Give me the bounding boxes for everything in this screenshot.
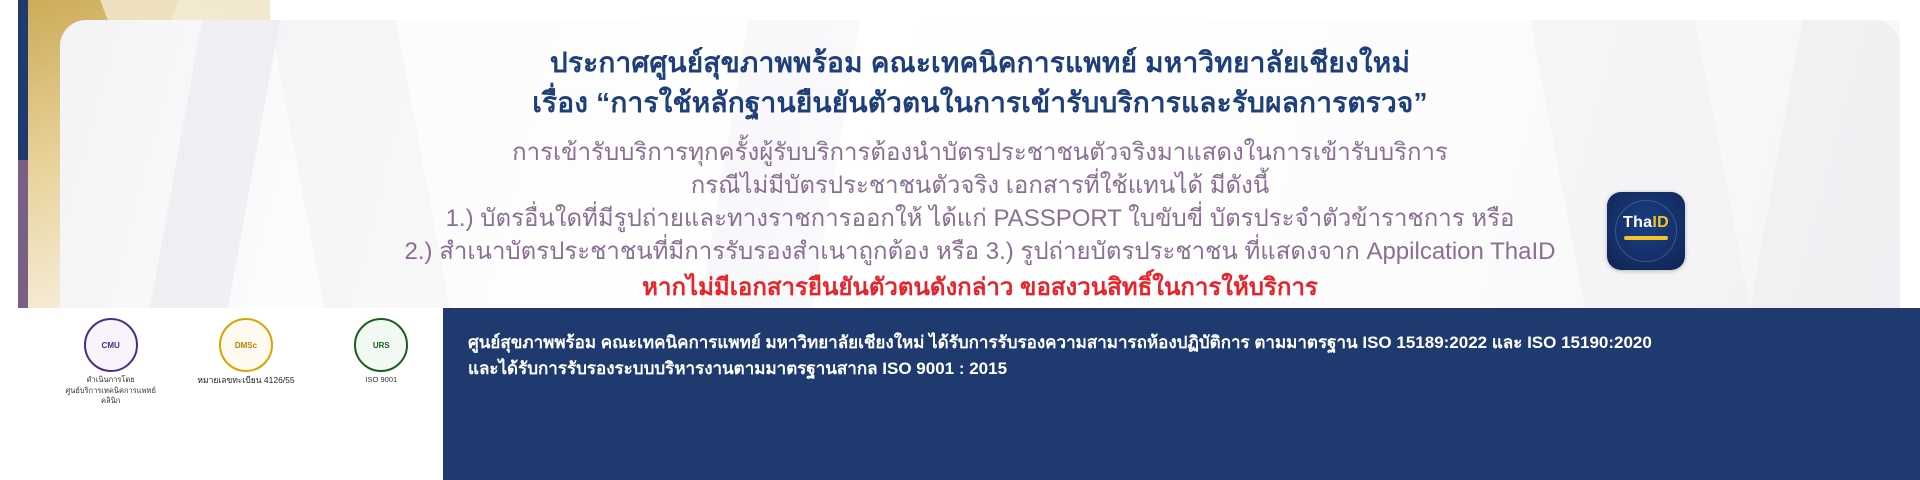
dmsc-seal-icon: DMSc [219, 318, 273, 372]
thaid-underline-decoration [1624, 236, 1668, 240]
logo-item-urs: URS ISO 9001 [327, 318, 436, 385]
footer-bar: CMU ดำเนินการโดย ศูนย์บริการเทคนิคการแพท… [0, 308, 1920, 480]
dmsc-caption-1: หมายเลขทะเบียน 4126/55 [191, 375, 300, 385]
cmu-seal-icon: CMU [84, 318, 138, 372]
rail-segment-navy [18, 0, 28, 160]
accreditation-logos: CMU ดำเนินการโดย ศูนย์บริการเทคนิคการแพท… [56, 318, 436, 438]
thaid-label-id: ID [1652, 214, 1669, 231]
footer-divider [440, 308, 443, 480]
rail-segment-purple [18, 160, 28, 320]
announcement-title-line-1: ประกาศศูนย์สุขภาพพร้อม คณะเทคนิคการแพทย์… [60, 44, 1900, 82]
announcement-body-line-1: การเข้ารับบริการทุกครั้งผู้รับบริการต้อง… [60, 136, 1900, 169]
announcement-warning-text: หากไม่มีเอกสารยืนยันตัวตนดังกล่าว ขอสงวน… [60, 272, 1900, 304]
footer-accreditation-text: ศูนย์สุขภาพพร้อม คณะเทคนิคการแพทย์ มหาวิ… [468, 330, 1652, 382]
announcement-banner: ประกาศศูนย์สุขภาพพร้อม คณะเทคนิคการแพทย์… [0, 0, 1920, 480]
urs-seal-icon: URS [354, 318, 408, 372]
thaid-label: ThaID [1607, 214, 1685, 232]
logo-item-dmsc: DMSc หมายเลขทะเบียน 4126/55 [191, 318, 300, 385]
cmu-caption-2: ศูนย์บริการเทคนิคการแพทย์คลินิก [56, 386, 165, 406]
dmsc-seal-mark: DMSc [235, 341, 257, 350]
cmu-seal-mark: CMU [102, 341, 120, 350]
footer-text-line-1: ศูนย์สุขภาพพร้อม คณะเทคนิคการแพทย์ มหาวิ… [468, 330, 1652, 356]
footer-text-line-2: และได้รับการรับรองระบบบริหารงานตามมาตรฐา… [468, 356, 1652, 382]
logo-item-cmu: CMU ดำเนินการโดย ศูนย์บริการเทคนิคการแพท… [56, 318, 165, 406]
cmu-caption-1: ดำเนินการโดย [56, 375, 165, 385]
announcement-title-line-2: เรื่อง “การใช้หลักฐานยืนยันตัวตนในการเข้… [60, 84, 1900, 122]
urs-caption-1: ISO 9001 [327, 375, 436, 385]
thaid-app-icon: ThaID [1607, 192, 1685, 270]
urs-seal-mark: URS [373, 341, 390, 350]
thaid-label-tha: Tha [1623, 214, 1652, 231]
